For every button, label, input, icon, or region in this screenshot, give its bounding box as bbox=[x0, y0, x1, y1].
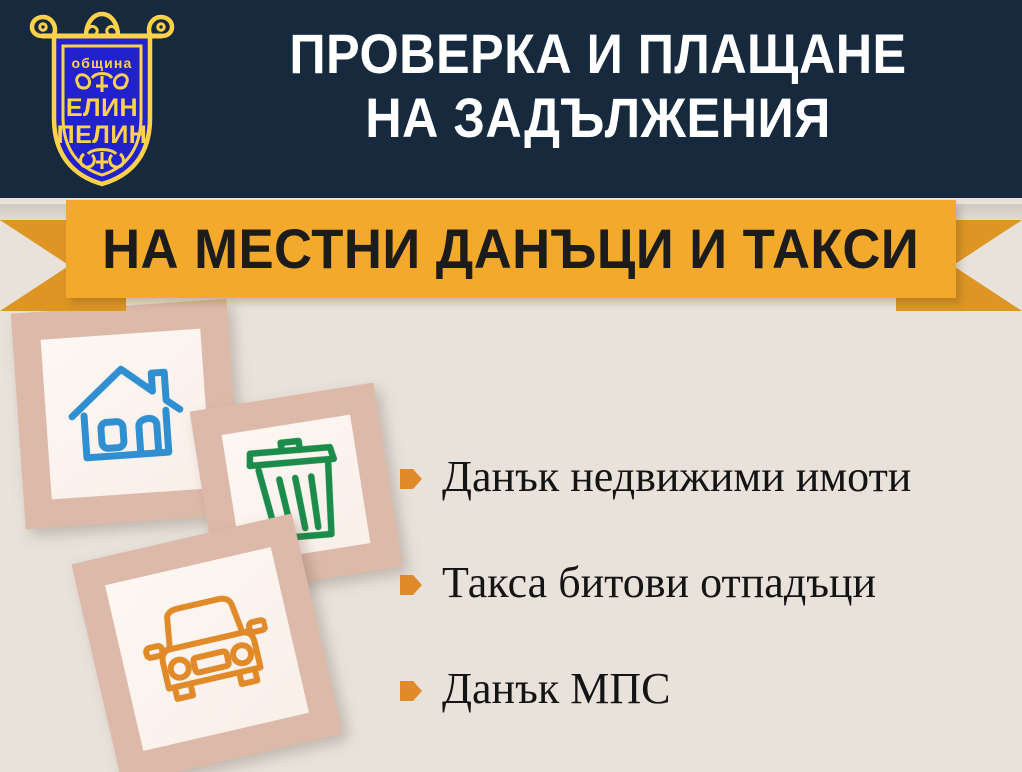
list-item-label: Данък недвижими имоти bbox=[442, 453, 911, 501]
subtitle-ribbon: НА МЕСТНИ ДАНЪЦИ И ТАКСИ bbox=[0, 196, 1022, 311]
svg-text:ЕЛИН: ЕЛИН bbox=[66, 94, 138, 122]
municipality-logo: община ЕЛИН ПЕЛИН bbox=[26, 6, 178, 192]
ribbon-label: НА МЕСТНИ ДАНЪЦИ И ТАКСИ bbox=[102, 220, 919, 278]
bullet-arrow-icon bbox=[400, 573, 422, 597]
ribbon-panel: НА МЕСТНИ ДАНЪЦИ И ТАКСИ bbox=[66, 200, 956, 298]
list-item-label: Такса битови отпадъци bbox=[442, 559, 876, 607]
bullet-arrow-icon bbox=[400, 467, 422, 491]
poster-canvas: община ЕЛИН ПЕЛИН ПРОВЕРКА И П bbox=[0, 0, 1022, 772]
list-item: Такса битови отпадъци bbox=[400, 530, 1010, 636]
poster-title: ПРОВЕРКА И ПЛАЩАНЕ НА ЗАДЪЛЖЕНИЯ bbox=[186, 22, 1010, 150]
car-icon bbox=[133, 584, 281, 714]
svg-text:община: община bbox=[71, 55, 132, 71]
title-line-2: НА ЗАДЪЛЖЕНИЯ bbox=[227, 86, 969, 150]
bullet-arrow-icon bbox=[400, 679, 422, 703]
list-item: Данък МПС bbox=[400, 636, 1010, 742]
tax-type-list: Данък недвижими имоти Такса битови отпад… bbox=[400, 424, 1010, 742]
house-icon bbox=[62, 355, 189, 473]
list-item-label: Данък МПС bbox=[442, 665, 670, 713]
stamp-inner-house bbox=[41, 329, 212, 500]
list-item: Данък недвижими имоти bbox=[400, 424, 1010, 530]
svg-text:ПЕЛИН: ПЕЛИН bbox=[57, 121, 148, 149]
title-line-1: ПРОВЕРКА И ПЛАЩАНЕ bbox=[227, 22, 969, 86]
